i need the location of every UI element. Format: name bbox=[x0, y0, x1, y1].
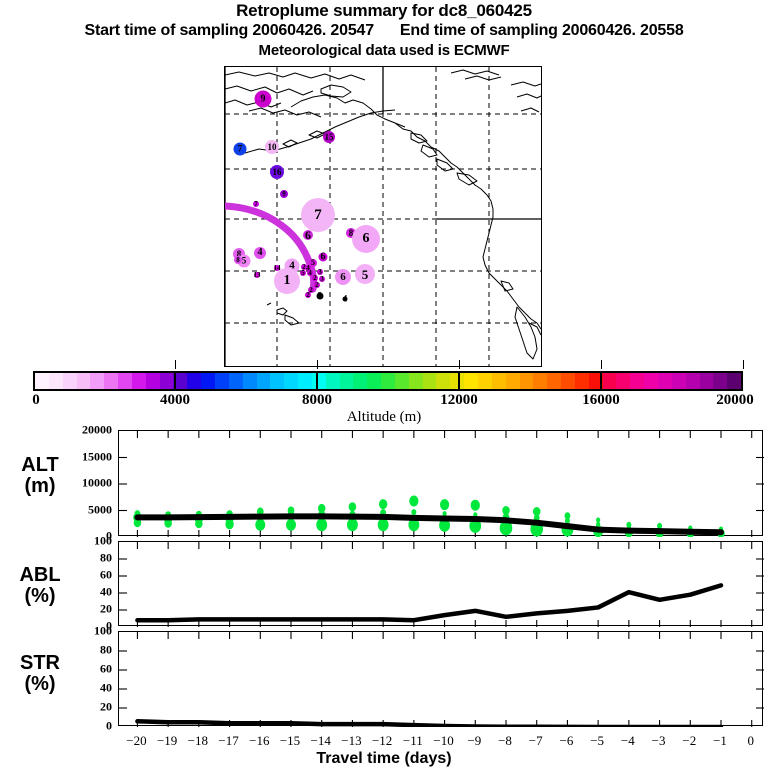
plume-marker-label: 3 bbox=[320, 276, 324, 283]
colorbar-divider bbox=[458, 371, 460, 391]
plume-marker[interactable]: 7 bbox=[234, 143, 247, 156]
page-title: Retroplume summary for dc8_060425 bbox=[0, 0, 768, 21]
colorbar-segment bbox=[727, 373, 741, 389]
plume-marker[interactable]: 5 bbox=[300, 270, 306, 276]
str-panel[interactable] bbox=[118, 631, 763, 726]
plume-marker-label: 9 bbox=[261, 94, 266, 104]
y-tick-marks bbox=[119, 651, 764, 708]
colorbar-segment bbox=[436, 373, 450, 389]
colorbar-segment bbox=[340, 373, 354, 389]
colorbar-segment bbox=[215, 373, 229, 389]
plume-marker-label: 8 bbox=[236, 257, 240, 264]
colorbar-segment bbox=[284, 373, 298, 389]
plume-marker[interactable]: 9 bbox=[280, 190, 288, 198]
plume-marker-label: 4 bbox=[308, 270, 312, 277]
plume-marker-label: 6 bbox=[363, 232, 370, 246]
end-time-label: End time of sampling 20060426. 20558 bbox=[400, 22, 684, 39]
colorbar-tick-label: 4000 bbox=[160, 392, 190, 409]
colorbar-segment bbox=[35, 373, 49, 389]
colorbar-segment bbox=[423, 373, 437, 389]
plume-marker[interactable]: 6 bbox=[319, 253, 328, 262]
y-tick-label: 5000 bbox=[52, 502, 112, 517]
plume-marker[interactable]: 10 bbox=[265, 140, 279, 154]
x-tick-label: −13 bbox=[341, 733, 361, 749]
plume-marker[interactable]: 5 bbox=[355, 264, 375, 284]
colorbar-segment bbox=[229, 373, 243, 389]
colorbar-segment bbox=[603, 373, 617, 389]
plume-marker-label: 15 bbox=[325, 133, 334, 142]
colorbar-tick-label: 8000 bbox=[302, 392, 332, 409]
colorbar-segment bbox=[160, 373, 174, 389]
str-plot bbox=[119, 632, 764, 727]
colorbar-segment bbox=[616, 373, 630, 389]
colorbar-segment bbox=[367, 373, 381, 389]
plume-marker-label: 5 bbox=[362, 268, 369, 281]
plume-marker-label: 6 bbox=[305, 229, 311, 241]
colorbar-segment bbox=[520, 373, 534, 389]
str-mean-line bbox=[137, 721, 721, 727]
met-data-label: Meteorological data used is ECMWF bbox=[0, 41, 768, 60]
colorbar-segment bbox=[381, 373, 395, 389]
colorbar-segment bbox=[464, 373, 478, 389]
y-tick-label: 60 bbox=[52, 662, 112, 677]
plume-marker[interactable]: 1 bbox=[274, 268, 300, 294]
x-tick-label: −11 bbox=[403, 733, 423, 749]
plume-marker[interactable]: 13 bbox=[254, 272, 260, 278]
plume-marker-label: 2 bbox=[315, 282, 319, 289]
colorbar-axis-title: Altitude (m) bbox=[0, 409, 768, 426]
x-tick-label: −16 bbox=[249, 733, 269, 749]
colorbar-segment bbox=[561, 373, 575, 389]
colorbar-segment bbox=[49, 373, 63, 389]
colorbar-segment bbox=[77, 373, 91, 389]
y-tick-label: 15000 bbox=[52, 449, 112, 464]
x-tick-label: −10 bbox=[433, 733, 453, 749]
colorbar-segment bbox=[104, 373, 118, 389]
x-tick-label: −12 bbox=[372, 733, 392, 749]
colorbar-segment bbox=[492, 373, 506, 389]
colorbar-segment bbox=[132, 373, 146, 389]
colorbar-divider bbox=[600, 371, 602, 391]
abl-mean-line bbox=[137, 585, 721, 620]
abl-panel[interactable] bbox=[118, 541, 763, 626]
plume-marker[interactable]: 4 bbox=[343, 297, 348, 302]
header-block: Retroplume summary for dc8_060425 Start … bbox=[0, 0, 768, 60]
plume-marker[interactable]: 9 bbox=[255, 91, 272, 108]
plume-marker[interactable]: 6 bbox=[335, 269, 351, 285]
plume-marker-label: 4 bbox=[258, 248, 263, 258]
colorbar-segment bbox=[506, 373, 520, 389]
plume-marker[interactable]: 8 bbox=[234, 256, 242, 264]
alt-plot bbox=[119, 431, 764, 537]
y-tick-label: 80 bbox=[52, 643, 112, 658]
colorbar-segment bbox=[90, 373, 104, 389]
colorbar-segment bbox=[187, 373, 201, 389]
x-tick-label: −4 bbox=[621, 733, 635, 749]
colorbar-tick bbox=[459, 360, 460, 369]
colorbar-segment bbox=[326, 373, 340, 389]
y-tick-label: 100 bbox=[52, 534, 112, 549]
colorbar-segment bbox=[270, 373, 284, 389]
plume-marker-label: 7 bbox=[254, 201, 258, 208]
alt-mean-line bbox=[137, 516, 721, 532]
colorbar-segment bbox=[547, 373, 561, 389]
plume-marker-label: 16 bbox=[273, 168, 282, 177]
x-tick-label: −2 bbox=[682, 733, 696, 749]
colorbar-segment bbox=[630, 373, 644, 389]
x-tick-label: −3 bbox=[652, 733, 666, 749]
plume-marker-label: 6 bbox=[340, 272, 346, 283]
y-tick-label: 0 bbox=[52, 719, 112, 734]
y-tick-label: 40 bbox=[52, 585, 112, 600]
x-tick-label: −20 bbox=[126, 733, 146, 749]
x-tick-label: −17 bbox=[218, 733, 238, 749]
plume-marker-label: 2 bbox=[306, 292, 310, 299]
colorbar-segment bbox=[575, 373, 589, 389]
colorbar-segment bbox=[395, 373, 409, 389]
x-tick-label: −5 bbox=[590, 733, 604, 749]
plume-marker[interactable]: 7 bbox=[301, 198, 335, 232]
y-tick-label: 20000 bbox=[52, 423, 112, 438]
colorbar-segment bbox=[672, 373, 686, 389]
colorbar-segment bbox=[243, 373, 257, 389]
colorbar-tick bbox=[743, 360, 744, 369]
colorbar-tick bbox=[601, 360, 602, 369]
plume-marker[interactable]: 2 bbox=[314, 282, 320, 288]
colorbar-segment bbox=[298, 373, 312, 389]
x-tick-label: −15 bbox=[280, 733, 300, 749]
plume-marker[interactable]: 2 bbox=[305, 292, 311, 298]
x-tick-marks bbox=[137, 632, 751, 727]
colorbar-segment bbox=[118, 373, 132, 389]
plume-marker-label: 10 bbox=[268, 143, 277, 152]
y-tick-label: 60 bbox=[52, 568, 112, 583]
plume-marker-label: 7 bbox=[314, 208, 322, 223]
colorbar-segment bbox=[312, 373, 326, 389]
x-tick-label: −18 bbox=[188, 733, 208, 749]
plume-marker[interactable]: 15 bbox=[323, 131, 335, 143]
colorbar-segment bbox=[700, 373, 714, 389]
colorbar-divider bbox=[316, 371, 318, 391]
colorbar-segment bbox=[146, 373, 160, 389]
plume-marker-label: 1 bbox=[284, 274, 291, 288]
colorbar-segment bbox=[63, 373, 77, 389]
plume-marker[interactable]: 6 bbox=[303, 230, 313, 240]
retroplume-map[interactable]: 9157101697768685841314416524543232223654 bbox=[224, 66, 542, 367]
x-tick-label: −1 bbox=[713, 733, 727, 749]
y-tick-label: 10000 bbox=[52, 476, 112, 491]
colorbar-segment bbox=[686, 373, 700, 389]
colorbar-tick-label: 0 bbox=[32, 392, 40, 409]
plume-marker-label: 4 bbox=[343, 295, 348, 304]
colorbar-segment bbox=[201, 373, 215, 389]
x-axis-title: Travel time (days) bbox=[0, 750, 768, 768]
colorbar-segment bbox=[409, 373, 423, 389]
y-tick-marks bbox=[119, 559, 764, 610]
plume-marker[interactable]: 3 bbox=[319, 276, 325, 282]
y-tick-label: 80 bbox=[52, 551, 112, 566]
x-tick-label: −7 bbox=[529, 733, 543, 749]
x-tick-label: −9 bbox=[467, 733, 481, 749]
altitude-colorbar[interactable] bbox=[33, 371, 743, 391]
colorbar-divider bbox=[174, 371, 176, 391]
plume-marker-label: 7 bbox=[238, 145, 243, 154]
plume-marker-label: 5 bbox=[301, 270, 305, 277]
colorbar-tick bbox=[175, 360, 176, 369]
y-tick-label: 100 bbox=[52, 624, 112, 639]
x-tick-label: 0 bbox=[747, 733, 754, 749]
plume-marker-label: 9 bbox=[282, 191, 286, 198]
plume-marker[interactable]: 3 bbox=[317, 293, 324, 300]
plume-marker-label: 3 bbox=[318, 292, 323, 301]
plume-marker[interactable]: 16 bbox=[270, 165, 284, 179]
colorbar-segment bbox=[478, 373, 492, 389]
plume-marker-label: 13 bbox=[254, 272, 261, 279]
colorbar-segment bbox=[713, 373, 727, 389]
plume-marker[interactable]: 7 bbox=[253, 201, 259, 207]
plume-marker-label: 5 bbox=[311, 259, 315, 267]
map-graticule-and-coastline bbox=[225, 67, 541, 366]
plume-marker[interactable]: 6 bbox=[352, 225, 380, 253]
x-tick-label: −6 bbox=[560, 733, 574, 749]
colorbar-segment bbox=[353, 373, 367, 389]
colorbar-segment bbox=[644, 373, 658, 389]
colorbar-tick bbox=[317, 360, 318, 369]
plume-marker[interactable]: 4 bbox=[254, 247, 266, 259]
alt-panel[interactable] bbox=[118, 430, 763, 536]
y-tick-label: 20 bbox=[52, 602, 112, 617]
colorbar-tick-label: 12000 bbox=[440, 392, 478, 409]
colorbar-segment bbox=[533, 373, 547, 389]
colorbar-tick-label: 16000 bbox=[582, 392, 620, 409]
colorbar-tick-label: 20000 bbox=[716, 392, 754, 409]
start-time-label: Start time of sampling 20060426. 20547 bbox=[84, 22, 373, 39]
sampling-time-line: Start time of sampling 20060426. 20547En… bbox=[0, 21, 768, 41]
y-tick-label: 40 bbox=[52, 681, 112, 696]
x-tick-label: −14 bbox=[311, 733, 331, 749]
colorbar-segment bbox=[658, 373, 672, 389]
x-tick-label: −8 bbox=[498, 733, 512, 749]
plume-marker-label: 5 bbox=[242, 257, 247, 266]
x-tick-label: −19 bbox=[157, 733, 177, 749]
plume-marker-label: 6 bbox=[321, 252, 326, 262]
abl-plot bbox=[119, 542, 764, 627]
colorbar-segment bbox=[257, 373, 271, 389]
y-tick-label: 20 bbox=[52, 700, 112, 715]
